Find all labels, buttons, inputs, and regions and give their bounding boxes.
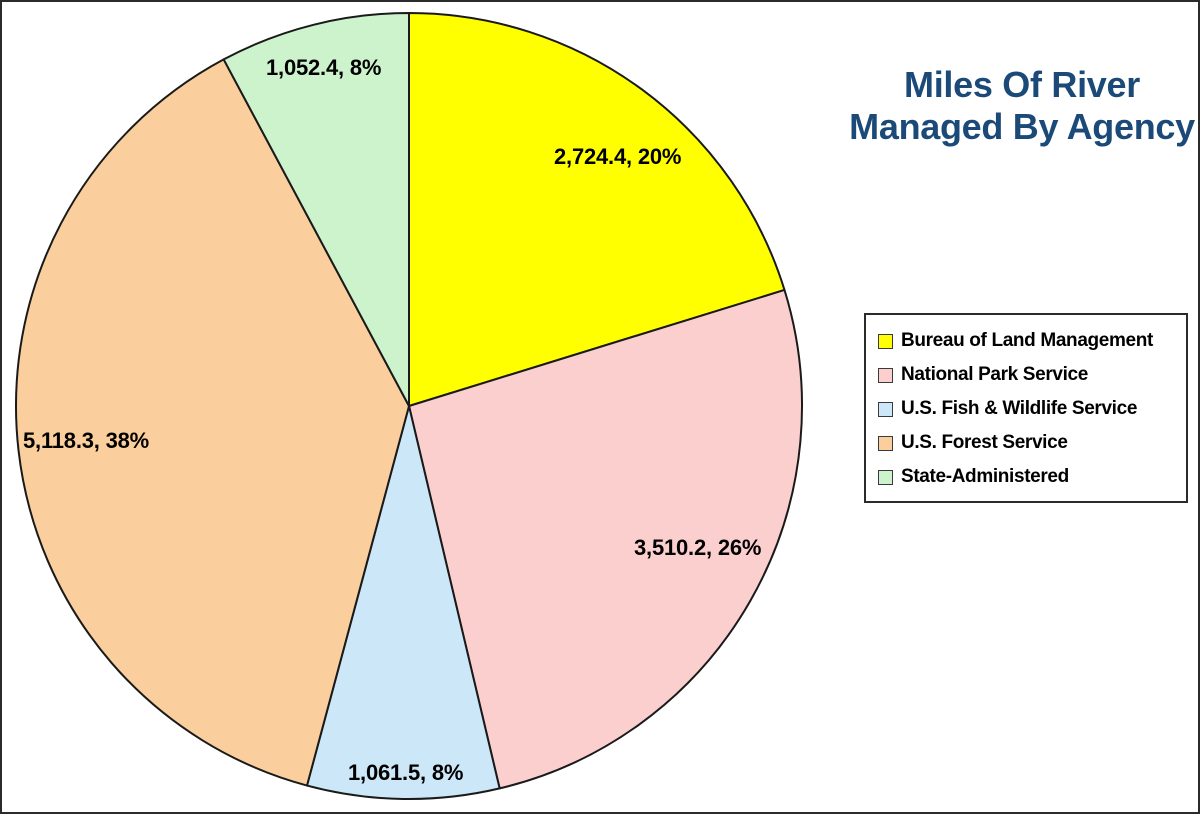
page-title: Miles Of River Managed By Agency	[847, 64, 1197, 148]
pie-slice-label: 3,510.2, 26%	[634, 535, 761, 561]
legend-item-label: National Park Service	[901, 364, 1088, 386]
legend-swatch-icon	[878, 436, 893, 451]
legend-item-label: U.S. Forest Service	[901, 432, 1068, 454]
pie-svg	[2, 2, 832, 814]
legend-item-us-forest-service[interactable]: U.S. Forest Service	[878, 426, 1186, 460]
legend-item-us-fish-and-wildlife-service[interactable]: U.S. Fish & Wildlife Service	[878, 392, 1186, 426]
legend-item-state-administered[interactable]: State-Administered	[878, 460, 1186, 494]
legend-item-label: U.S. Fish & Wildlife Service	[901, 398, 1137, 420]
legend-item-label: State-Administered	[901, 466, 1069, 488]
legend-item-national-park-service[interactable]: National Park Service	[878, 358, 1186, 392]
legend-swatch-icon	[878, 368, 893, 383]
pie-slice-label: 5,118.3, 38%	[23, 428, 149, 454]
pie-slices-group	[16, 13, 802, 799]
legend-swatch-icon	[878, 470, 893, 485]
legend-swatch-icon	[878, 402, 893, 417]
legend-item-label: Bureau of Land Management	[901, 330, 1153, 352]
legend-swatch-icon	[878, 334, 893, 349]
chart-legend: Bureau of Land Management National Park …	[864, 313, 1188, 503]
legend-item-bureau-of-land-management[interactable]: Bureau of Land Management	[878, 324, 1186, 358]
pie-slice-label: 2,724.4, 20%	[554, 144, 681, 170]
pie-slice-label: 1,061.5, 8%	[348, 760, 463, 786]
pie-slice-label: 1,052.4, 8%	[266, 55, 381, 81]
pie-chart-plot-area: 2,724.4, 20%3,510.2, 26%1,061.5, 8%5,118…	[2, 2, 832, 814]
pie-chart-page: 2,724.4, 20%3,510.2, 26%1,061.5, 8%5,118…	[0, 0, 1200, 814]
